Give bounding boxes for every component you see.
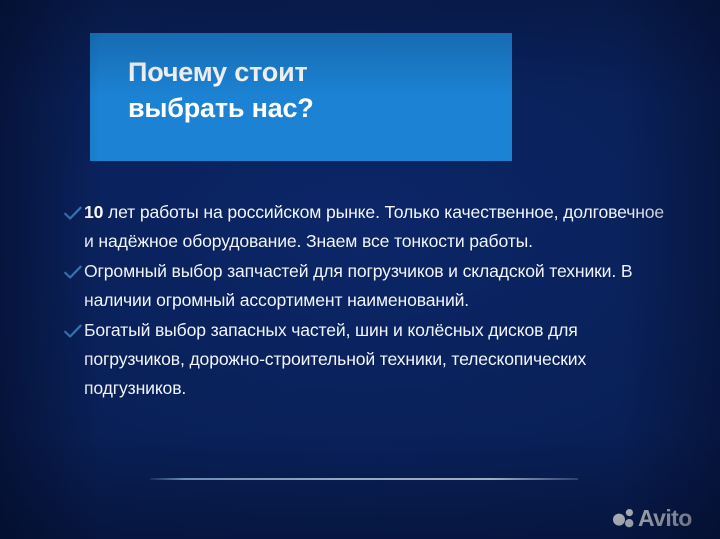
list-item-body: Богатый выбор запасных частей, шин и кол… <box>84 320 586 398</box>
avito-wordmark: Avito <box>638 507 692 530</box>
list-item: Богатый выбор запасных частей, шин и кол… <box>62 316 670 403</box>
list-item-text: 10 лет работы на российском рынке. Тольк… <box>84 198 670 256</box>
avito-dots-icon <box>611 506 635 530</box>
list-item-text: Огромный выбор запчастей для погрузчиков… <box>84 257 670 315</box>
page-title: Почему стоит выбрать нас? <box>128 55 486 127</box>
list-item-text: Богатый выбор запасных частей, шин и кол… <box>84 316 670 403</box>
divider <box>150 478 578 480</box>
list-item-body: Огромный выбор запчастей для погрузчиков… <box>84 261 632 310</box>
list-item: 10 лет работы на российском рынке. Тольк… <box>62 198 670 256</box>
heading-block: Почему стоит выбрать нас? <box>90 33 512 161</box>
benefits-list: 10 лет работы на российском рынке. Тольк… <box>62 198 670 404</box>
list-item: Огромный выбор запчастей для погрузчиков… <box>62 257 670 315</box>
list-item-lead: 10 <box>84 202 103 222</box>
list-item-body: лет работы на российском рынке. Только к… <box>84 202 664 251</box>
check-icon <box>62 317 84 346</box>
check-icon <box>62 199 84 228</box>
check-icon <box>62 258 84 287</box>
avito-watermark: Avito <box>611 506 692 530</box>
slide-canvas: Почему стоит выбрать нас? 10 лет работы … <box>0 0 720 539</box>
